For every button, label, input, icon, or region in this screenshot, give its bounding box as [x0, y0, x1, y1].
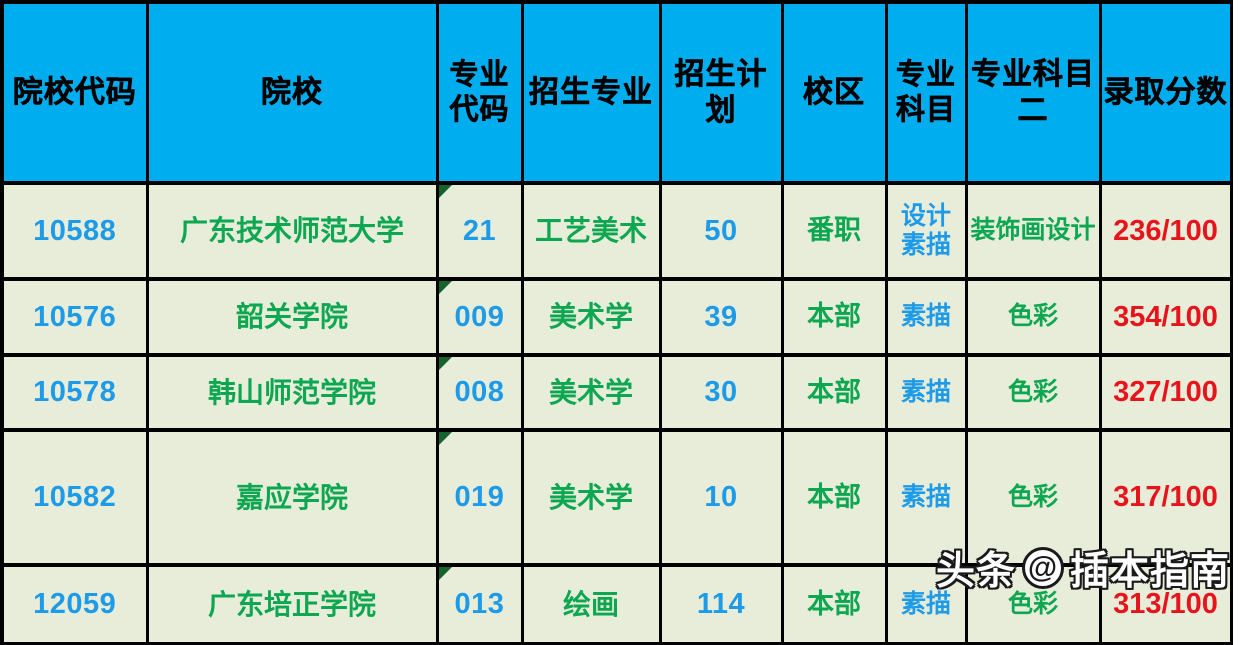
cell-score: 236/100	[1100, 183, 1231, 279]
cell-major-code: 019	[437, 430, 522, 565]
cell-major-code: 21	[437, 183, 522, 279]
comment-marker-icon	[439, 567, 452, 580]
cell-subject1: 素描	[886, 279, 966, 355]
cell-major-code: 013	[437, 565, 522, 644]
cell-plan: 114	[660, 565, 782, 644]
cell-campus: 本部	[782, 565, 886, 644]
cell-subject1: 素描	[886, 355, 966, 430]
column-header-school-code[interactable]: 院校代码	[2, 2, 147, 183]
watermark: 头条 @ 插本指南	[936, 540, 1230, 596]
column-header-campus[interactable]: 校区	[782, 2, 886, 183]
cell-campus: 本部	[782, 430, 886, 565]
column-header-subject2[interactable]: 专业科目二	[966, 2, 1100, 183]
column-header-plan[interactable]: 招生计划	[660, 2, 782, 183]
cell-major-code: 008	[437, 355, 522, 430]
cell-campus: 番职	[782, 183, 886, 279]
cell-subject1: 设计素描	[886, 183, 966, 279]
cell-subject2: 色彩	[966, 279, 1100, 355]
screenshot-root: 院校代码 院校 专业代码 招生专业 招生计划 校区 专业科目 专业科目二 录取分…	[0, 0, 1240, 606]
cell-school: 广东培正学院	[147, 565, 437, 644]
cell-major: 美术学	[522, 279, 660, 355]
cell-plan: 10	[660, 430, 782, 565]
column-header-major-code[interactable]: 专业代码	[437, 2, 522, 183]
cell-major: 工艺美术	[522, 183, 660, 279]
cell-subject2: 色彩	[966, 355, 1100, 430]
cell-campus: 本部	[782, 355, 886, 430]
cell-major-code-text: 009	[455, 301, 505, 333]
comment-marker-icon	[439, 281, 452, 294]
watermark-handle: 插本指南	[1070, 540, 1230, 596]
cell-major-code-text: 21	[463, 215, 496, 247]
table-header: 院校代码 院校 专业代码 招生专业 招生计划 校区 专业科目 专业科目二 录取分…	[2, 2, 1231, 183]
table-row[interactable]: 10588 广东技术师范大学 21 工艺美术 50 番职 设计素描 装饰画设计 …	[2, 183, 1231, 279]
column-header-major[interactable]: 招生专业	[522, 2, 660, 183]
cell-subject2: 装饰画设计	[966, 183, 1100, 279]
cell-score: 354/100	[1100, 279, 1231, 355]
comment-marker-icon	[439, 357, 452, 370]
cell-major: 绘画	[522, 565, 660, 644]
cell-school: 韩山师范学院	[147, 355, 437, 430]
column-header-subject1[interactable]: 专业科目	[886, 2, 966, 183]
column-header-school[interactable]: 院校	[147, 2, 437, 183]
cell-school: 韶关学院	[147, 279, 437, 355]
cell-plan: 30	[660, 355, 782, 430]
cell-school-code: 10576	[2, 279, 147, 355]
cell-major-code-text: 019	[455, 481, 505, 513]
cell-major-code-text: 008	[455, 376, 505, 408]
watermark-platform: 头条	[936, 540, 1016, 596]
comment-marker-icon	[439, 185, 452, 198]
column-header-score[interactable]: 录取分数	[1100, 2, 1231, 183]
cell-major: 美术学	[522, 355, 660, 430]
at-sign-icon: @	[1022, 547, 1064, 589]
table-row[interactable]: 10576 韶关学院 009 美术学 39 本部 素描 色彩 354/100	[2, 279, 1231, 355]
cell-major-code: 009	[437, 279, 522, 355]
comment-marker-icon	[439, 432, 452, 445]
cell-school-code: 10582	[2, 430, 147, 565]
header-row: 院校代码 院校 专业代码 招生专业 招生计划 校区 专业科目 专业科目二 录取分…	[2, 2, 1231, 183]
cell-school: 广东技术师范大学	[147, 183, 437, 279]
cell-school: 嘉应学院	[147, 430, 437, 565]
cell-school-code: 10588	[2, 183, 147, 279]
cell-campus: 本部	[782, 279, 886, 355]
cell-score: 327/100	[1100, 355, 1231, 430]
cell-school-code: 12059	[2, 565, 147, 644]
cell-plan: 39	[660, 279, 782, 355]
cell-major-code-text: 013	[455, 588, 505, 620]
table-row[interactable]: 10578 韩山师范学院 008 美术学 30 本部 素描 色彩 327/100	[2, 355, 1231, 430]
cell-school-code: 10578	[2, 355, 147, 430]
cell-plan: 50	[660, 183, 782, 279]
cell-major: 美术学	[522, 430, 660, 565]
